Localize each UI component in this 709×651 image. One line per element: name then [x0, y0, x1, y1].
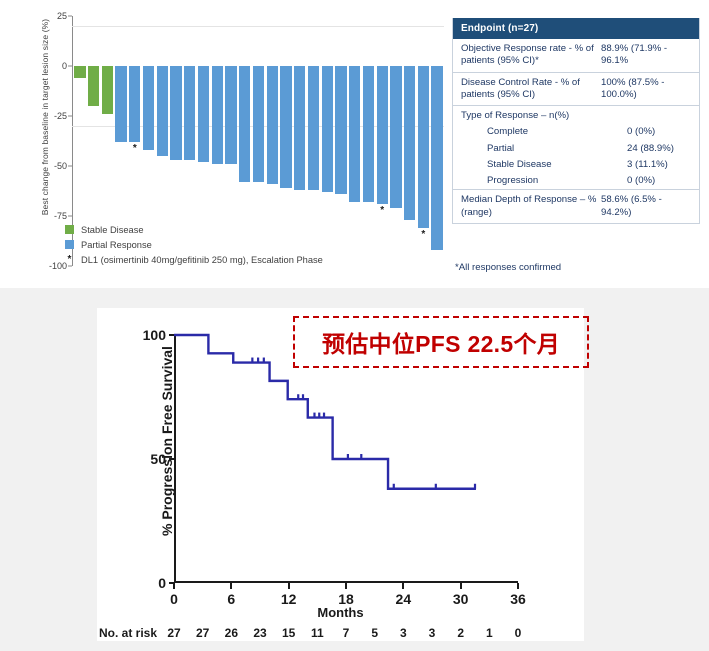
table-row: Objective Response rate - % of patients … — [453, 39, 699, 72]
waterfall-y-axis-label: Best change from baseline in target lesi… — [40, 17, 50, 217]
km-annotation-text: 预估中位PFS 22.5个月 — [322, 325, 560, 359]
table-row: Median Depth of Response – % (range)58.6… — [453, 189, 699, 223]
waterfall-bar — [390, 66, 401, 208]
km-x-tick-mark — [460, 583, 462, 589]
kaplan-meier-plot-area: 100500 061218243036 % Progression Free S… — [174, 335, 518, 583]
table-row: Type of Response – n(%) — [453, 105, 699, 124]
legend-swatch-icon — [65, 240, 74, 249]
km-risk-value: 23 — [253, 626, 266, 640]
waterfall-bar — [349, 66, 360, 202]
legend-swatch-icon — [65, 225, 74, 234]
waterfall-y-tick-label: -25 — [54, 111, 67, 121]
km-x-tick-mark — [230, 583, 232, 589]
waterfall-y-tick-mark — [68, 166, 72, 167]
waterfall-y-tick-mark — [68, 216, 72, 217]
km-risk-table-label: No. at risk — [99, 626, 157, 640]
waterfall-legend-item: Partial Response — [65, 237, 323, 252]
km-risk-value: 5 — [371, 626, 378, 640]
km-x-tick-mark — [517, 583, 519, 589]
table-row-label: Stable Disease — [461, 159, 627, 171]
waterfall-legend-label: Stable Disease — [81, 225, 144, 235]
waterfall-y-tick-label: 25 — [57, 11, 67, 21]
waterfall-bar — [129, 66, 140, 142]
waterfall-y-tick-mark — [68, 116, 72, 117]
table-row: Stable Disease3 (11.1%) — [453, 157, 699, 173]
km-risk-value: 1 — [486, 626, 493, 640]
km-risk-table: No. at risk 2727262315117533210 — [97, 626, 584, 646]
km-risk-value: 0 — [515, 626, 522, 640]
waterfall-bar — [280, 66, 291, 188]
km-risk-value: 27 — [196, 626, 209, 640]
figure-page: Best change from baseline in target lesi… — [0, 0, 709, 651]
waterfall-y-tick-label: 0 — [62, 61, 67, 71]
waterfall-bar — [418, 66, 429, 228]
waterfall-legend-label: Partial Response — [81, 240, 152, 250]
waterfall-bar — [88, 66, 99, 106]
waterfall-y-tick-mark — [68, 66, 72, 67]
waterfall-bar — [308, 66, 319, 190]
km-risk-value: 27 — [167, 626, 180, 640]
waterfall-y-tick-label: -75 — [54, 211, 67, 221]
km-x-tick-mark — [173, 583, 175, 589]
waterfall-bar — [157, 66, 168, 156]
km-y-axis-label: % Progression Free Survival — [159, 316, 175, 566]
waterfall-bar — [198, 66, 209, 162]
kaplan-meier-card: 100500 061218243036 % Progression Free S… — [97, 308, 584, 641]
waterfall-y-tick-label: -50 — [54, 161, 67, 171]
table-row-value: 0 (0%) — [627, 175, 691, 187]
table-row: Complete0 (0%) — [453, 124, 699, 140]
waterfall-chart: Best change from baseline in target lesi… — [8, 4, 446, 284]
table-row: Partial24 (88.9%) — [453, 141, 699, 157]
waterfall-bar — [253, 66, 264, 182]
asterisk-icon: * — [65, 254, 74, 265]
waterfall-bar — [184, 66, 195, 160]
table-row-label: Median Depth of Response – % (range) — [461, 194, 601, 219]
km-risk-value: 2 — [457, 626, 464, 640]
km-risk-value: 11 — [311, 626, 324, 640]
waterfall-legend-label: DL1 (osimertinib 40mg/gefitinib 250 mg),… — [81, 255, 323, 265]
table-row-value: 0 (0%) — [627, 126, 691, 138]
waterfall-legend: Stable DiseasePartial Response*DL1 (osim… — [65, 222, 323, 267]
table-row-label: Type of Response – n(%) — [461, 110, 601, 122]
km-risk-value: 15 — [282, 626, 295, 640]
km-x-tick-mark — [345, 583, 347, 589]
km-x-axis-label: Months — [97, 605, 584, 620]
table-row-label: Progression — [461, 175, 627, 187]
km-x-tick-mark — [288, 583, 290, 589]
table-row-value: 88.9% (71.9% - 96.1% — [601, 43, 691, 68]
waterfall-bar — [404, 66, 415, 220]
waterfall-bar — [225, 66, 236, 164]
waterfall-bar — [377, 66, 388, 204]
waterfall-bar — [335, 66, 346, 194]
km-y-tick-label: 0 — [158, 575, 166, 591]
waterfall-bar — [115, 66, 126, 142]
waterfall-bar-asterisk: * — [380, 206, 384, 216]
km-survival-curve — [174, 335, 518, 583]
waterfall-bar-asterisk: * — [133, 144, 137, 154]
waterfall-bar — [74, 66, 85, 78]
table-row: Progression0 (0%) — [453, 173, 699, 189]
waterfall-bar — [322, 66, 333, 192]
waterfall-y-tick-mark — [68, 16, 72, 17]
waterfall-bar — [267, 66, 278, 184]
waterfall-legend-item: Stable Disease — [65, 222, 323, 237]
endpoint-table: Endpoint (n=27) Objective Response rate … — [452, 18, 700, 224]
table-row-label: Complete — [461, 126, 627, 138]
waterfall-legend-item: *DL1 (osimertinib 40mg/gefitinib 250 mg)… — [65, 252, 323, 267]
table-row-value: 24 (88.9%) — [627, 143, 691, 155]
table-row-value: 3 (11.1%) — [627, 159, 691, 171]
table-row-value: 58.6% (6.5% - 94.2%) — [601, 194, 691, 219]
km-risk-value: 7 — [343, 626, 350, 640]
waterfall-bar — [102, 66, 113, 114]
km-risk-value: 3 — [400, 626, 407, 640]
table-row-label: Partial — [461, 143, 627, 155]
km-risk-value: 3 — [429, 626, 436, 640]
waterfall-bar — [239, 66, 250, 182]
km-x-tick-mark — [402, 583, 404, 589]
table-row-value — [601, 110, 691, 122]
waterfall-bar — [212, 66, 223, 164]
endpoint-table-header: Endpoint (n=27) — [453, 18, 699, 39]
waterfall-bar-asterisk: * — [421, 230, 425, 240]
table-row-label: Objective Response rate - % of patients … — [461, 43, 601, 68]
endpoint-table-footnote: *All responses confirmed — [455, 262, 561, 273]
km-annotation-box: 预估中位PFS 22.5个月 — [293, 316, 589, 368]
table-row-value: 100% (87.5% - 100.0%) — [601, 77, 691, 102]
endpoint-table-body: Objective Response rate - % of patients … — [453, 39, 699, 223]
table-row-label: Disease Control Rate - % of patients (95… — [461, 77, 601, 102]
waterfall-bar — [170, 66, 181, 160]
waterfall-bar — [363, 66, 374, 202]
waterfall-bar — [294, 66, 305, 190]
waterfall-bar — [431, 66, 442, 250]
km-risk-value: 26 — [225, 626, 238, 640]
table-row: Disease Control Rate - % of patients (95… — [453, 72, 699, 106]
top-panel: Best change from baseline in target lesi… — [0, 0, 709, 288]
waterfall-bar — [143, 66, 154, 150]
